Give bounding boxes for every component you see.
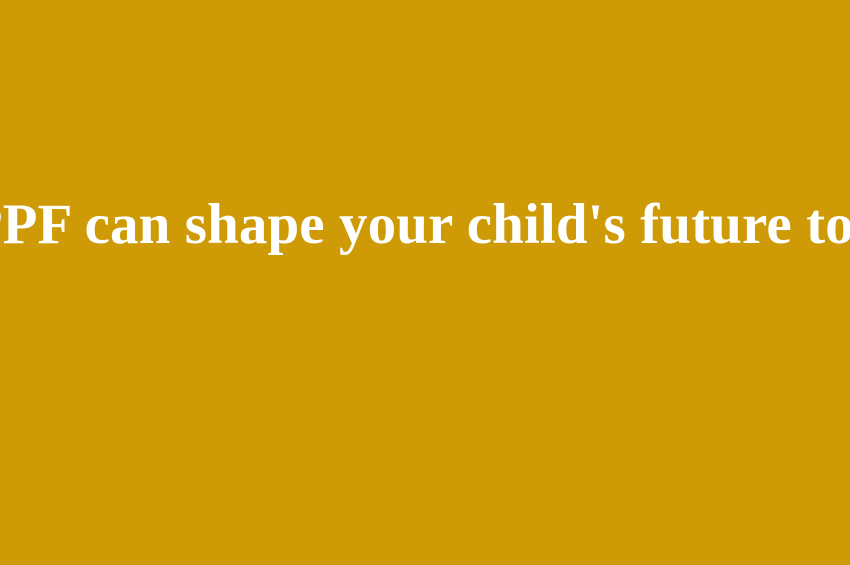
headline-block: PPF can shape your child's future too [0,0,850,450]
headline-title: PPF can shape your child's future too [0,195,850,255]
headline-card: PPF can shape your child's future too [0,0,850,565]
